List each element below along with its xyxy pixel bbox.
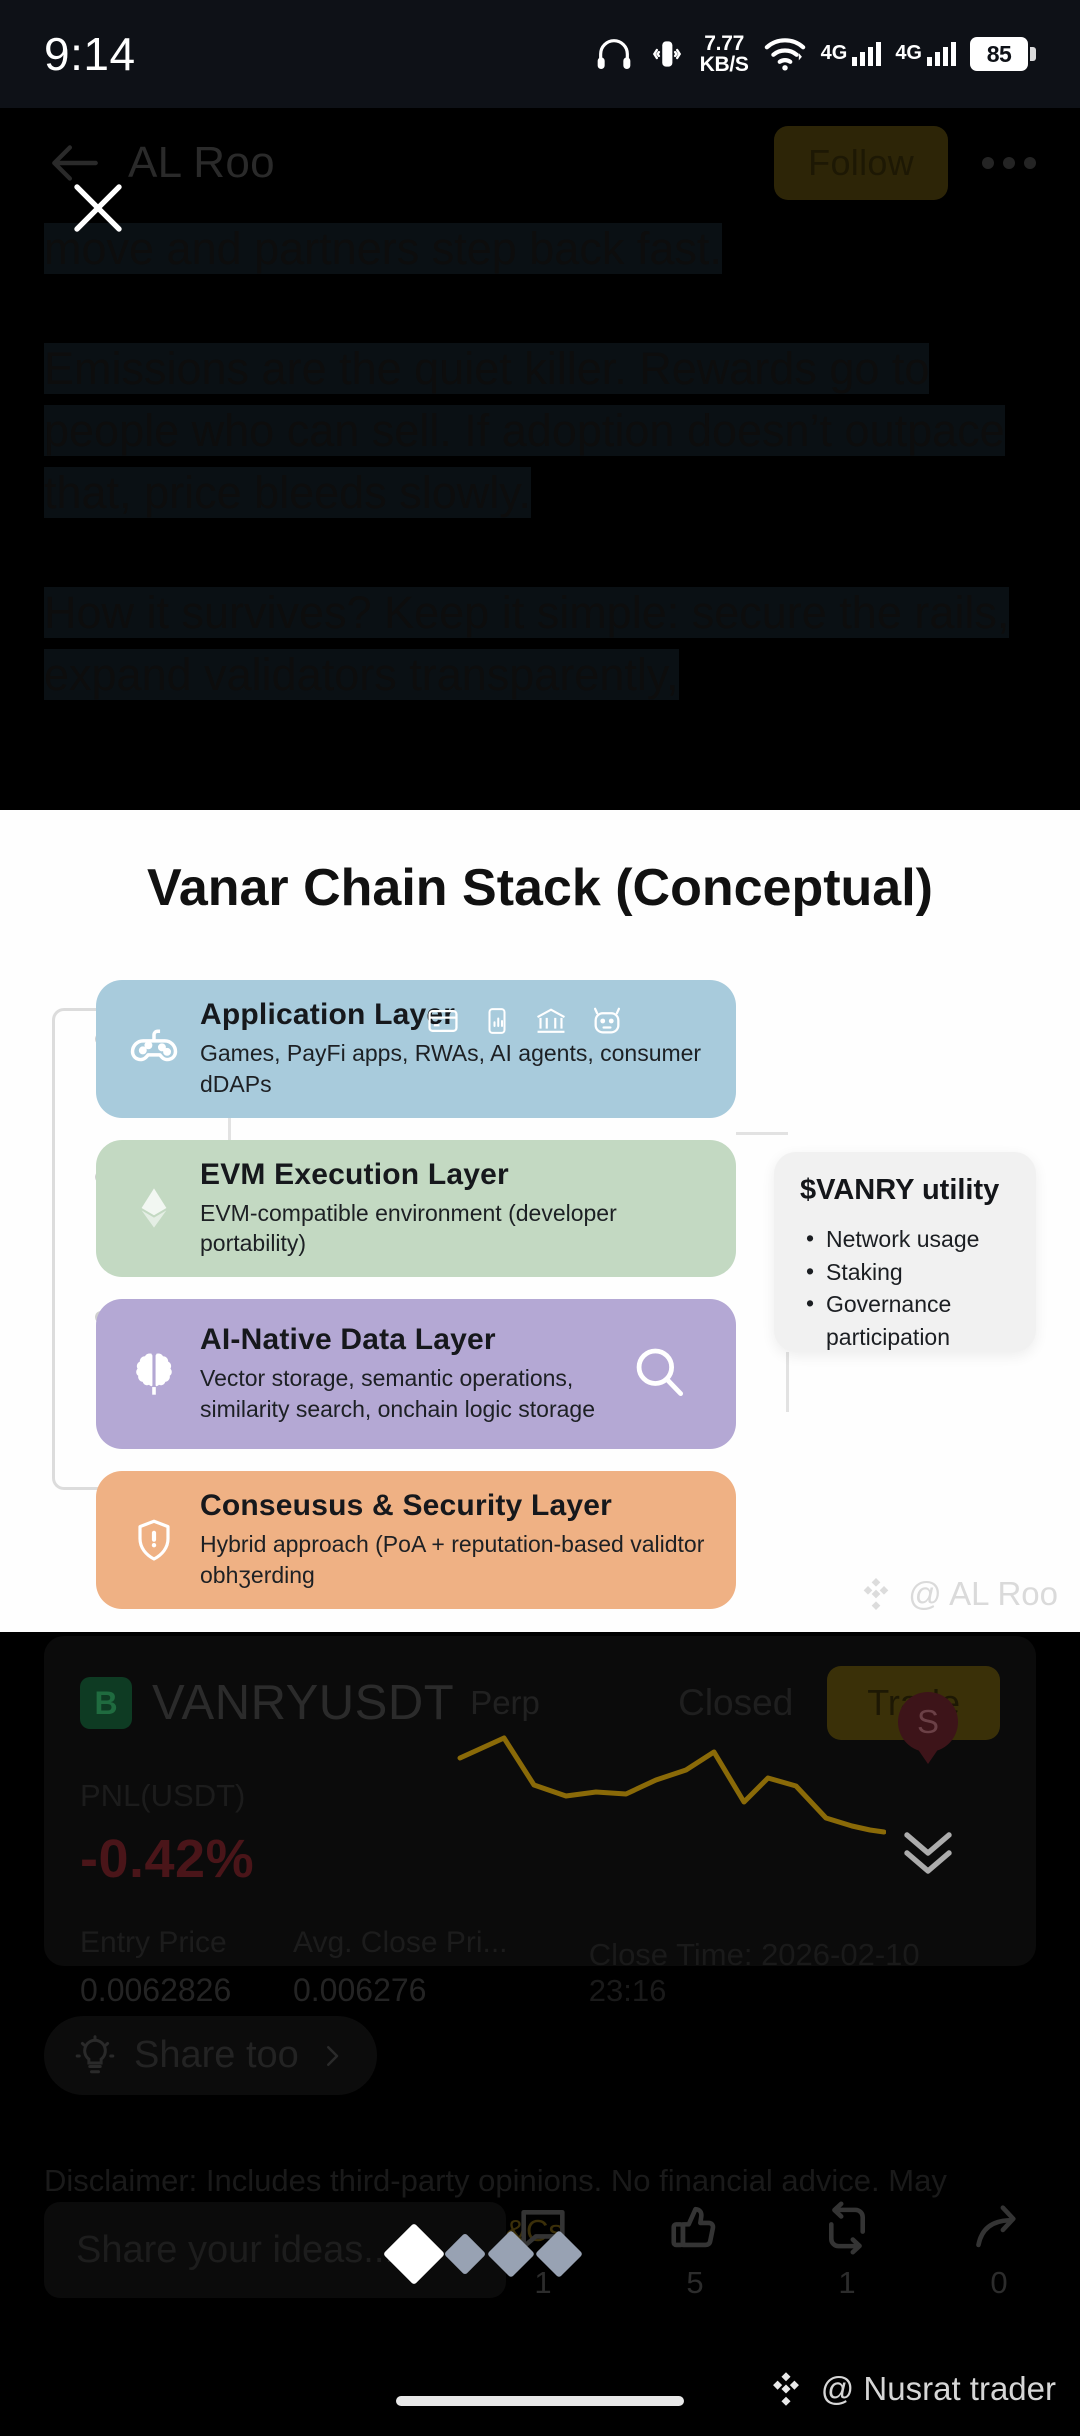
- vanry-utility-card[interactable]: $VANRY utility Network usage Staking Gov…: [774, 1152, 1036, 1352]
- layer-subtitle: EVM-compatible environment (developer po…: [200, 1198, 710, 1260]
- brain-icon: [122, 1347, 186, 1401]
- list-item: Governance participation: [800, 1288, 1010, 1353]
- layer-text: Conseusus & Security Layer Hybrid approa…: [200, 1489, 710, 1591]
- gamepad-icon: [122, 1021, 186, 1077]
- phone-screen: 9:14 7.77 KB/S: [0, 0, 1080, 2436]
- layer-title: EVM Execution Layer: [200, 1158, 710, 1192]
- credit-card-icon: [426, 1004, 460, 1038]
- application-icons: [426, 1004, 624, 1038]
- layer-text: AI-Native Data Layer Vector storage, sem…: [200, 1323, 595, 1425]
- close-icon[interactable]: [62, 172, 134, 244]
- robot-icon: [590, 1004, 624, 1038]
- image-viewer-overlay: Vanar Chain Stack (Conceptual): [0, 0, 1080, 2436]
- ethereum-icon: [122, 1180, 186, 1236]
- layer-ai-native-data[interactable]: AI-Native Data Layer Vector storage, sem…: [96, 1299, 736, 1449]
- bank-icon: [534, 1004, 568, 1038]
- layer-text: EVM Execution Layer EVM-compatible envir…: [200, 1158, 710, 1260]
- list-item: Network usage: [800, 1223, 1010, 1256]
- binance-logo-icon: [856, 1574, 896, 1614]
- layer-application[interactable]: Application Layer Games, PayFi apps, RWA…: [96, 980, 736, 1118]
- shield-icon: [122, 1512, 186, 1568]
- utility-card-title: $VANRY utility: [800, 1174, 1010, 1207]
- diagram-image[interactable]: Vanar Chain Stack (Conceptual): [0, 810, 1080, 1632]
- brace-connector: [52, 1008, 100, 1490]
- layer-subtitle: Games, PayFi apps, RWAs, AI agents, cons…: [200, 1038, 710, 1100]
- layer-title: AI-Native Data Layer: [200, 1323, 595, 1357]
- layer-subtitle: Hybrid approach (PoA + reputation-based …: [200, 1529, 710, 1591]
- utility-connector-bottom: [736, 1132, 788, 1135]
- magnifier-icon: [626, 1340, 690, 1409]
- mobile-chart-icon: [482, 1004, 512, 1038]
- list-item: Staking: [800, 1256, 1010, 1289]
- utility-card-list: Network usage Staking Governance partici…: [800, 1223, 1010, 1354]
- layer-consensus-security[interactable]: Conseusus & Security Layer Hybrid approa…: [96, 1471, 736, 1609]
- layer-evm-execution[interactable]: EVM Execution Layer EVM-compatible envir…: [96, 1140, 736, 1278]
- image-watermark-text: @ AL Roo: [908, 1575, 1058, 1613]
- layer-subtitle: Vector storage, semantic operations, sim…: [200, 1363, 595, 1425]
- layer-stack: Application Layer Games, PayFi apps, RWA…: [96, 980, 736, 1631]
- diagram-title: Vanar Chain Stack (Conceptual): [0, 858, 1080, 918]
- image-watermark: @ AL Roo: [856, 1574, 1058, 1614]
- layer-title: Conseusus & Security Layer: [200, 1489, 710, 1523]
- utility-connector-vertical: [786, 1352, 789, 1412]
